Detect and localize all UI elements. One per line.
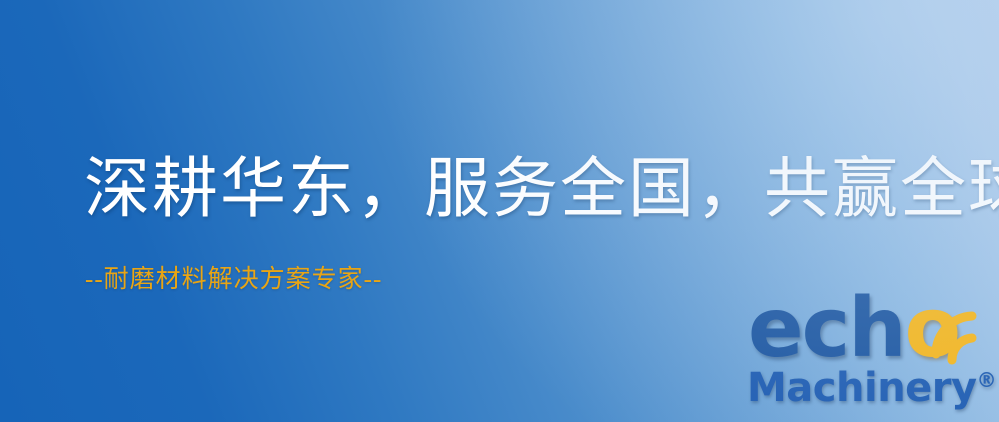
signal-wave-icon bbox=[902, 292, 998, 368]
banner-headline: 深耕华东，服务全国，共赢全球 bbox=[84, 152, 999, 228]
company-logo[interactable]: echo Machinery® bbox=[744, 294, 996, 420]
banner-subtitle: --耐磨材料解决方案专家-- bbox=[85, 264, 382, 296]
logo-subbrand-label: Machinery bbox=[747, 365, 977, 411]
hero-banner: 深耕华东，服务全国，共赢全球 --耐磨材料解决方案专家-- echo Machi… bbox=[0, 0, 999, 422]
logo-brand-prefix: ech bbox=[748, 281, 905, 376]
logo-wordmark: echo bbox=[744, 294, 996, 374]
logo-subbrand-text: Machinery® bbox=[747, 368, 997, 408]
registered-trademark-icon: ® bbox=[977, 368, 997, 392]
